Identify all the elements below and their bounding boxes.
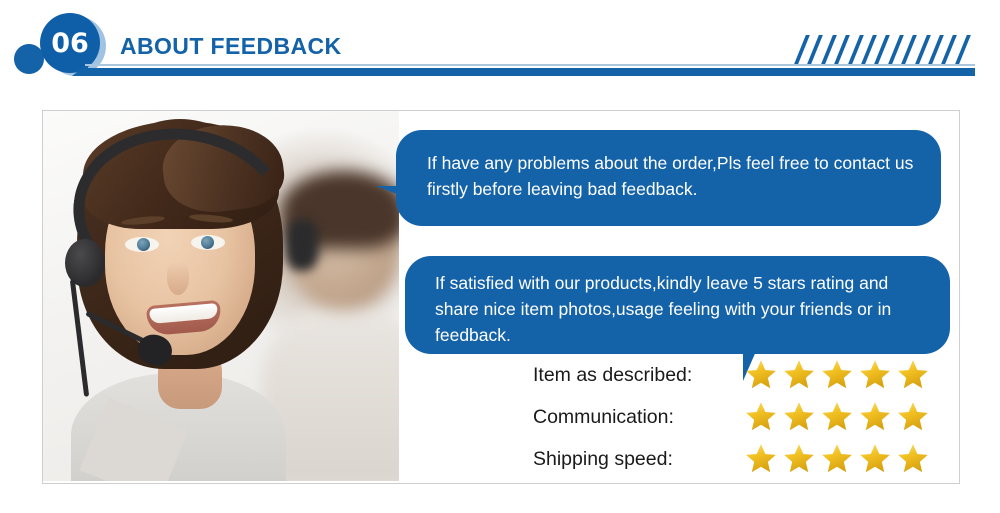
hatch-stripe <box>888 35 904 64</box>
star-icon <box>743 441 779 477</box>
star-icon <box>895 441 931 477</box>
star-icon <box>743 357 779 393</box>
hatch-stripe <box>808 35 824 64</box>
star-icon <box>819 399 855 435</box>
header-rule-thick <box>85 68 975 76</box>
diagonal-hatch-decoration <box>800 35 975 64</box>
hatch-stripe <box>821 35 837 64</box>
ratings-list: Item as described: Communication: Shippi… <box>533 354 953 480</box>
rating-stars-shipping-speed <box>743 441 931 477</box>
star-icon <box>743 399 779 435</box>
rating-row-shipping-speed: Shipping speed: <box>533 438 953 480</box>
star-icon <box>781 441 817 477</box>
speech-bubble-problems: If have any problems about the order,Pls… <box>396 130 941 226</box>
speech-bubble-satisfied: If satisfied with our products,kindly le… <box>405 256 950 354</box>
rating-label: Communication: <box>533 406 733 429</box>
customer-support-agent-photo <box>43 111 399 481</box>
star-icon <box>819 357 855 393</box>
star-icon <box>895 399 931 435</box>
star-icon <box>781 399 817 435</box>
rating-row-communication: Communication: <box>533 396 953 438</box>
rating-label: Shipping speed: <box>533 448 733 471</box>
star-icon <box>857 441 893 477</box>
header-rule-thin <box>85 64 975 66</box>
hatch-stripe <box>834 35 850 64</box>
hatch-stripe <box>955 35 971 64</box>
star-icon <box>857 399 893 435</box>
hatch-stripe <box>848 35 864 64</box>
photo-agent-teeth <box>149 303 218 324</box>
star-icon <box>857 357 893 393</box>
rating-label: Item as described: <box>533 364 733 387</box>
hatch-stripe <box>915 35 931 64</box>
star-icon <box>895 357 931 393</box>
hatch-stripe <box>875 35 891 64</box>
page-title: ABOUT FEEDBACK <box>120 33 342 60</box>
star-icon <box>781 357 817 393</box>
hatch-stripe <box>901 35 917 64</box>
section-header: 06 ABOUT FEEDBACK <box>0 0 1000 92</box>
content-panel: If have any problems about the order,Pls… <box>42 110 960 484</box>
hatch-stripe <box>942 35 958 64</box>
rating-stars-communication <box>743 399 931 435</box>
star-icon <box>819 441 855 477</box>
rating-row-item-as-described: Item as described: <box>533 354 953 396</box>
rating-stars-item-as-described <box>743 357 931 393</box>
circle-dot-icon <box>14 44 44 74</box>
